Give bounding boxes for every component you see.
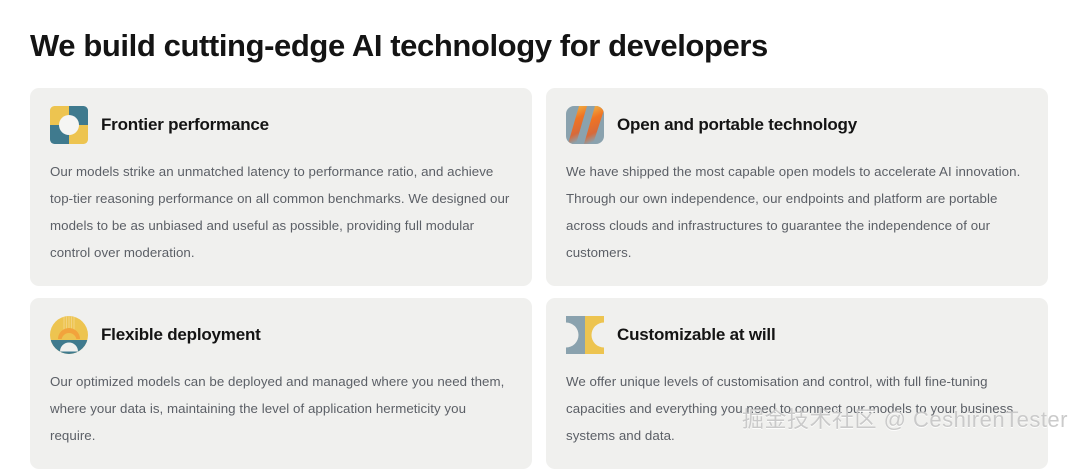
card-description: Our models strike an unmatched latency t… (50, 158, 512, 266)
feature-card: Flexible deployment Our optimized models… (30, 298, 532, 469)
quadrant-ring-icon (50, 106, 88, 144)
feature-card: Open and portable technology We have shi… (546, 88, 1048, 286)
page-title: We build cutting-edge AI technology for … (30, 26, 768, 66)
card-title: Open and portable technology (617, 114, 857, 136)
card-description: Our optimized models can be deployed and… (50, 368, 512, 449)
diagonal-stripes-icon (566, 106, 604, 144)
feature-card: Frontier performance Our models strike a… (30, 88, 532, 286)
card-header: Open and portable technology (566, 106, 1028, 144)
card-header: Frontier performance (50, 106, 512, 144)
hourglass-bowtie-icon (566, 316, 604, 354)
sunrise-circle-icon (50, 316, 88, 354)
card-header: Customizable at will (566, 316, 1028, 354)
card-title: Customizable at will (617, 324, 775, 346)
feature-section: We build cutting-edge AI technology for … (0, 0, 1080, 442)
watermark: 掘金技术社区 @ CeshirenTester (742, 406, 1068, 434)
card-title: Frontier performance (101, 114, 269, 136)
card-header: Flexible deployment (50, 316, 512, 354)
feature-card: Customizable at will We offer unique lev… (546, 298, 1048, 469)
card-description: We have shipped the most capable open mo… (566, 158, 1028, 266)
card-title: Flexible deployment (101, 324, 261, 346)
